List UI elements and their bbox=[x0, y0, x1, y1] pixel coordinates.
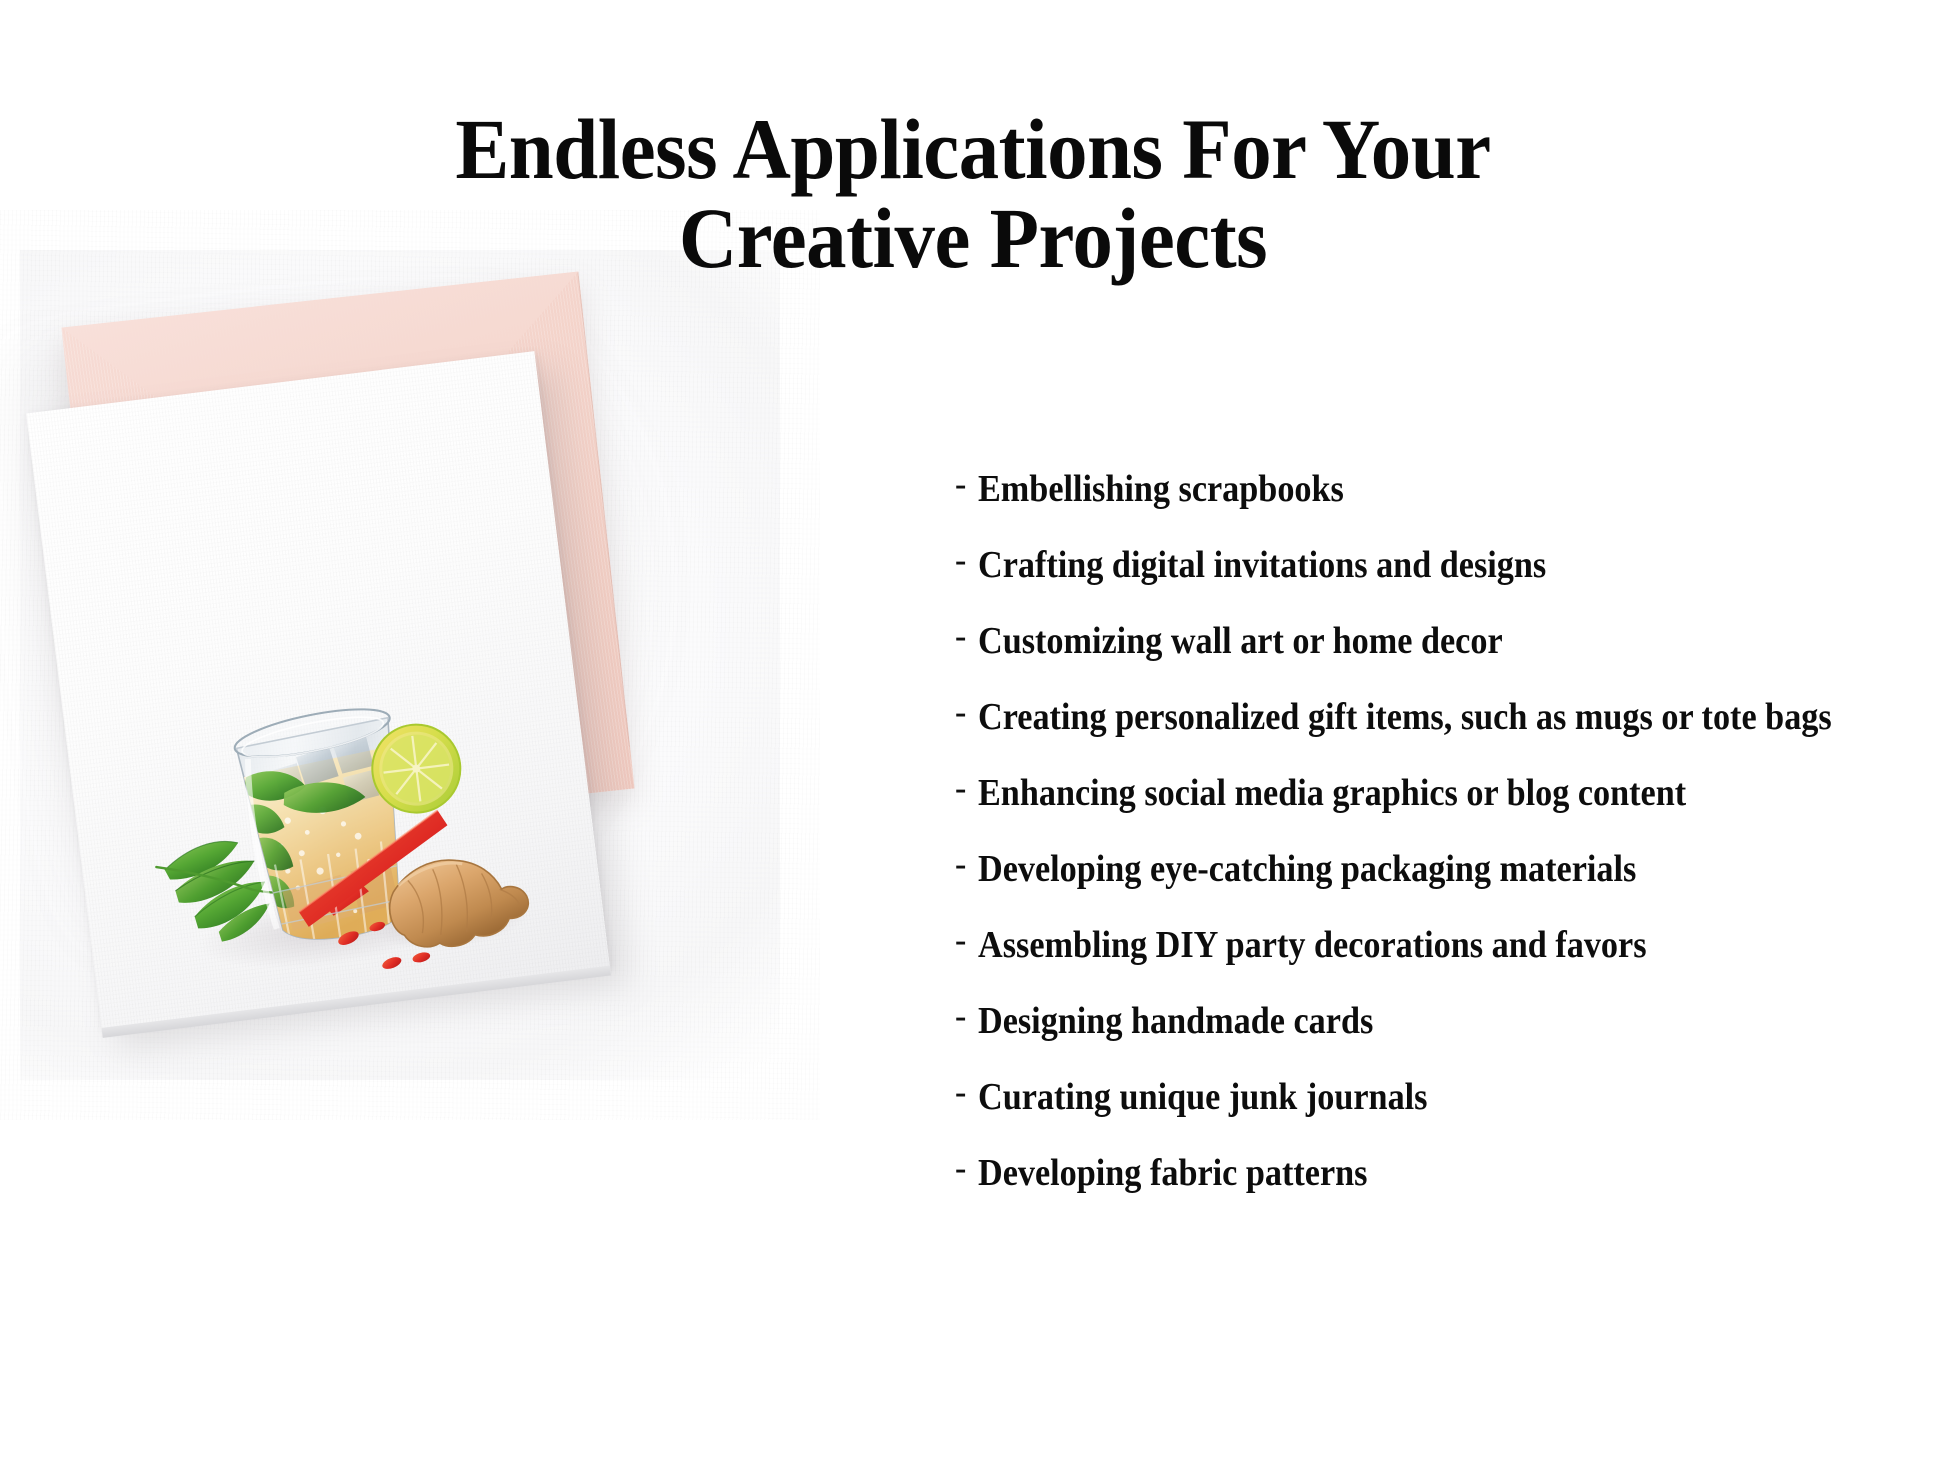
list-item-label: Curating unique junk journals bbox=[978, 1078, 1427, 1118]
greeting-card bbox=[26, 351, 610, 1029]
poster-canvas: Endless Applications For Your Creative P… bbox=[0, 0, 1946, 1460]
bullet-dash-icon: - bbox=[955, 770, 966, 808]
list-item: - Enhancing social media graphics or blo… bbox=[955, 774, 1935, 814]
bullet-dash-icon: - bbox=[955, 1150, 966, 1188]
bullet-dash-icon: - bbox=[955, 922, 966, 960]
bullet-dash-icon: - bbox=[955, 466, 966, 504]
bullet-dash-icon: - bbox=[955, 618, 966, 656]
list-item: - Developing fabric patterns bbox=[955, 1154, 1935, 1194]
list-item-label: Creating personalized gift items, such a… bbox=[978, 698, 1832, 738]
list-item-label: Designing handmade cards bbox=[978, 1002, 1373, 1042]
list-item: - Customizing wall art or home decor bbox=[955, 622, 1935, 662]
list-item-label: Assembling DIY party decorations and fav… bbox=[978, 926, 1647, 966]
list-item-label: Crafting digital invitations and designs bbox=[978, 546, 1546, 586]
page-title-line-2: Creative Projects bbox=[58, 197, 1887, 280]
list-item: - Embellishing scrapbooks bbox=[955, 470, 1935, 510]
ginger-root bbox=[384, 851, 532, 954]
list-item-label: Embellishing scrapbooks bbox=[978, 470, 1344, 510]
bullet-dash-icon: - bbox=[955, 846, 966, 884]
bullet-dash-icon: - bbox=[955, 1074, 966, 1112]
list-item: - Curating unique junk journals bbox=[955, 1078, 1935, 1118]
list-item: - Designing handmade cards bbox=[955, 1002, 1935, 1042]
page-title: Endless Applications For Your Creative P… bbox=[0, 108, 1946, 279]
list-item-label: Developing eye-catching packaging materi… bbox=[978, 850, 1636, 890]
bullet-dash-icon: - bbox=[955, 998, 966, 1036]
list-item: - Crafting digital invitations and desig… bbox=[955, 546, 1935, 586]
list-item: - Developing eye-catching packaging mate… bbox=[955, 850, 1935, 890]
list-item-label: Developing fabric patterns bbox=[978, 1154, 1367, 1194]
list-item: - Creating personalized gift items, such… bbox=[955, 698, 1935, 738]
list-item-label: Customizing wall art or home decor bbox=[978, 622, 1503, 662]
card-mockup-image bbox=[20, 250, 780, 1080]
list-item: - Assembling DIY party decorations and f… bbox=[955, 926, 1935, 966]
applications-list: - Embellishing scrapbooks - Crafting dig… bbox=[955, 470, 1935, 1230]
cocktail-illustration bbox=[115, 594, 556, 1000]
bullet-dash-icon: - bbox=[955, 542, 966, 580]
list-item-label: Enhancing social media graphics or blog … bbox=[978, 774, 1686, 814]
bullet-dash-icon: - bbox=[955, 694, 966, 732]
page-title-line-1: Endless Applications For Your bbox=[58, 108, 1887, 191]
